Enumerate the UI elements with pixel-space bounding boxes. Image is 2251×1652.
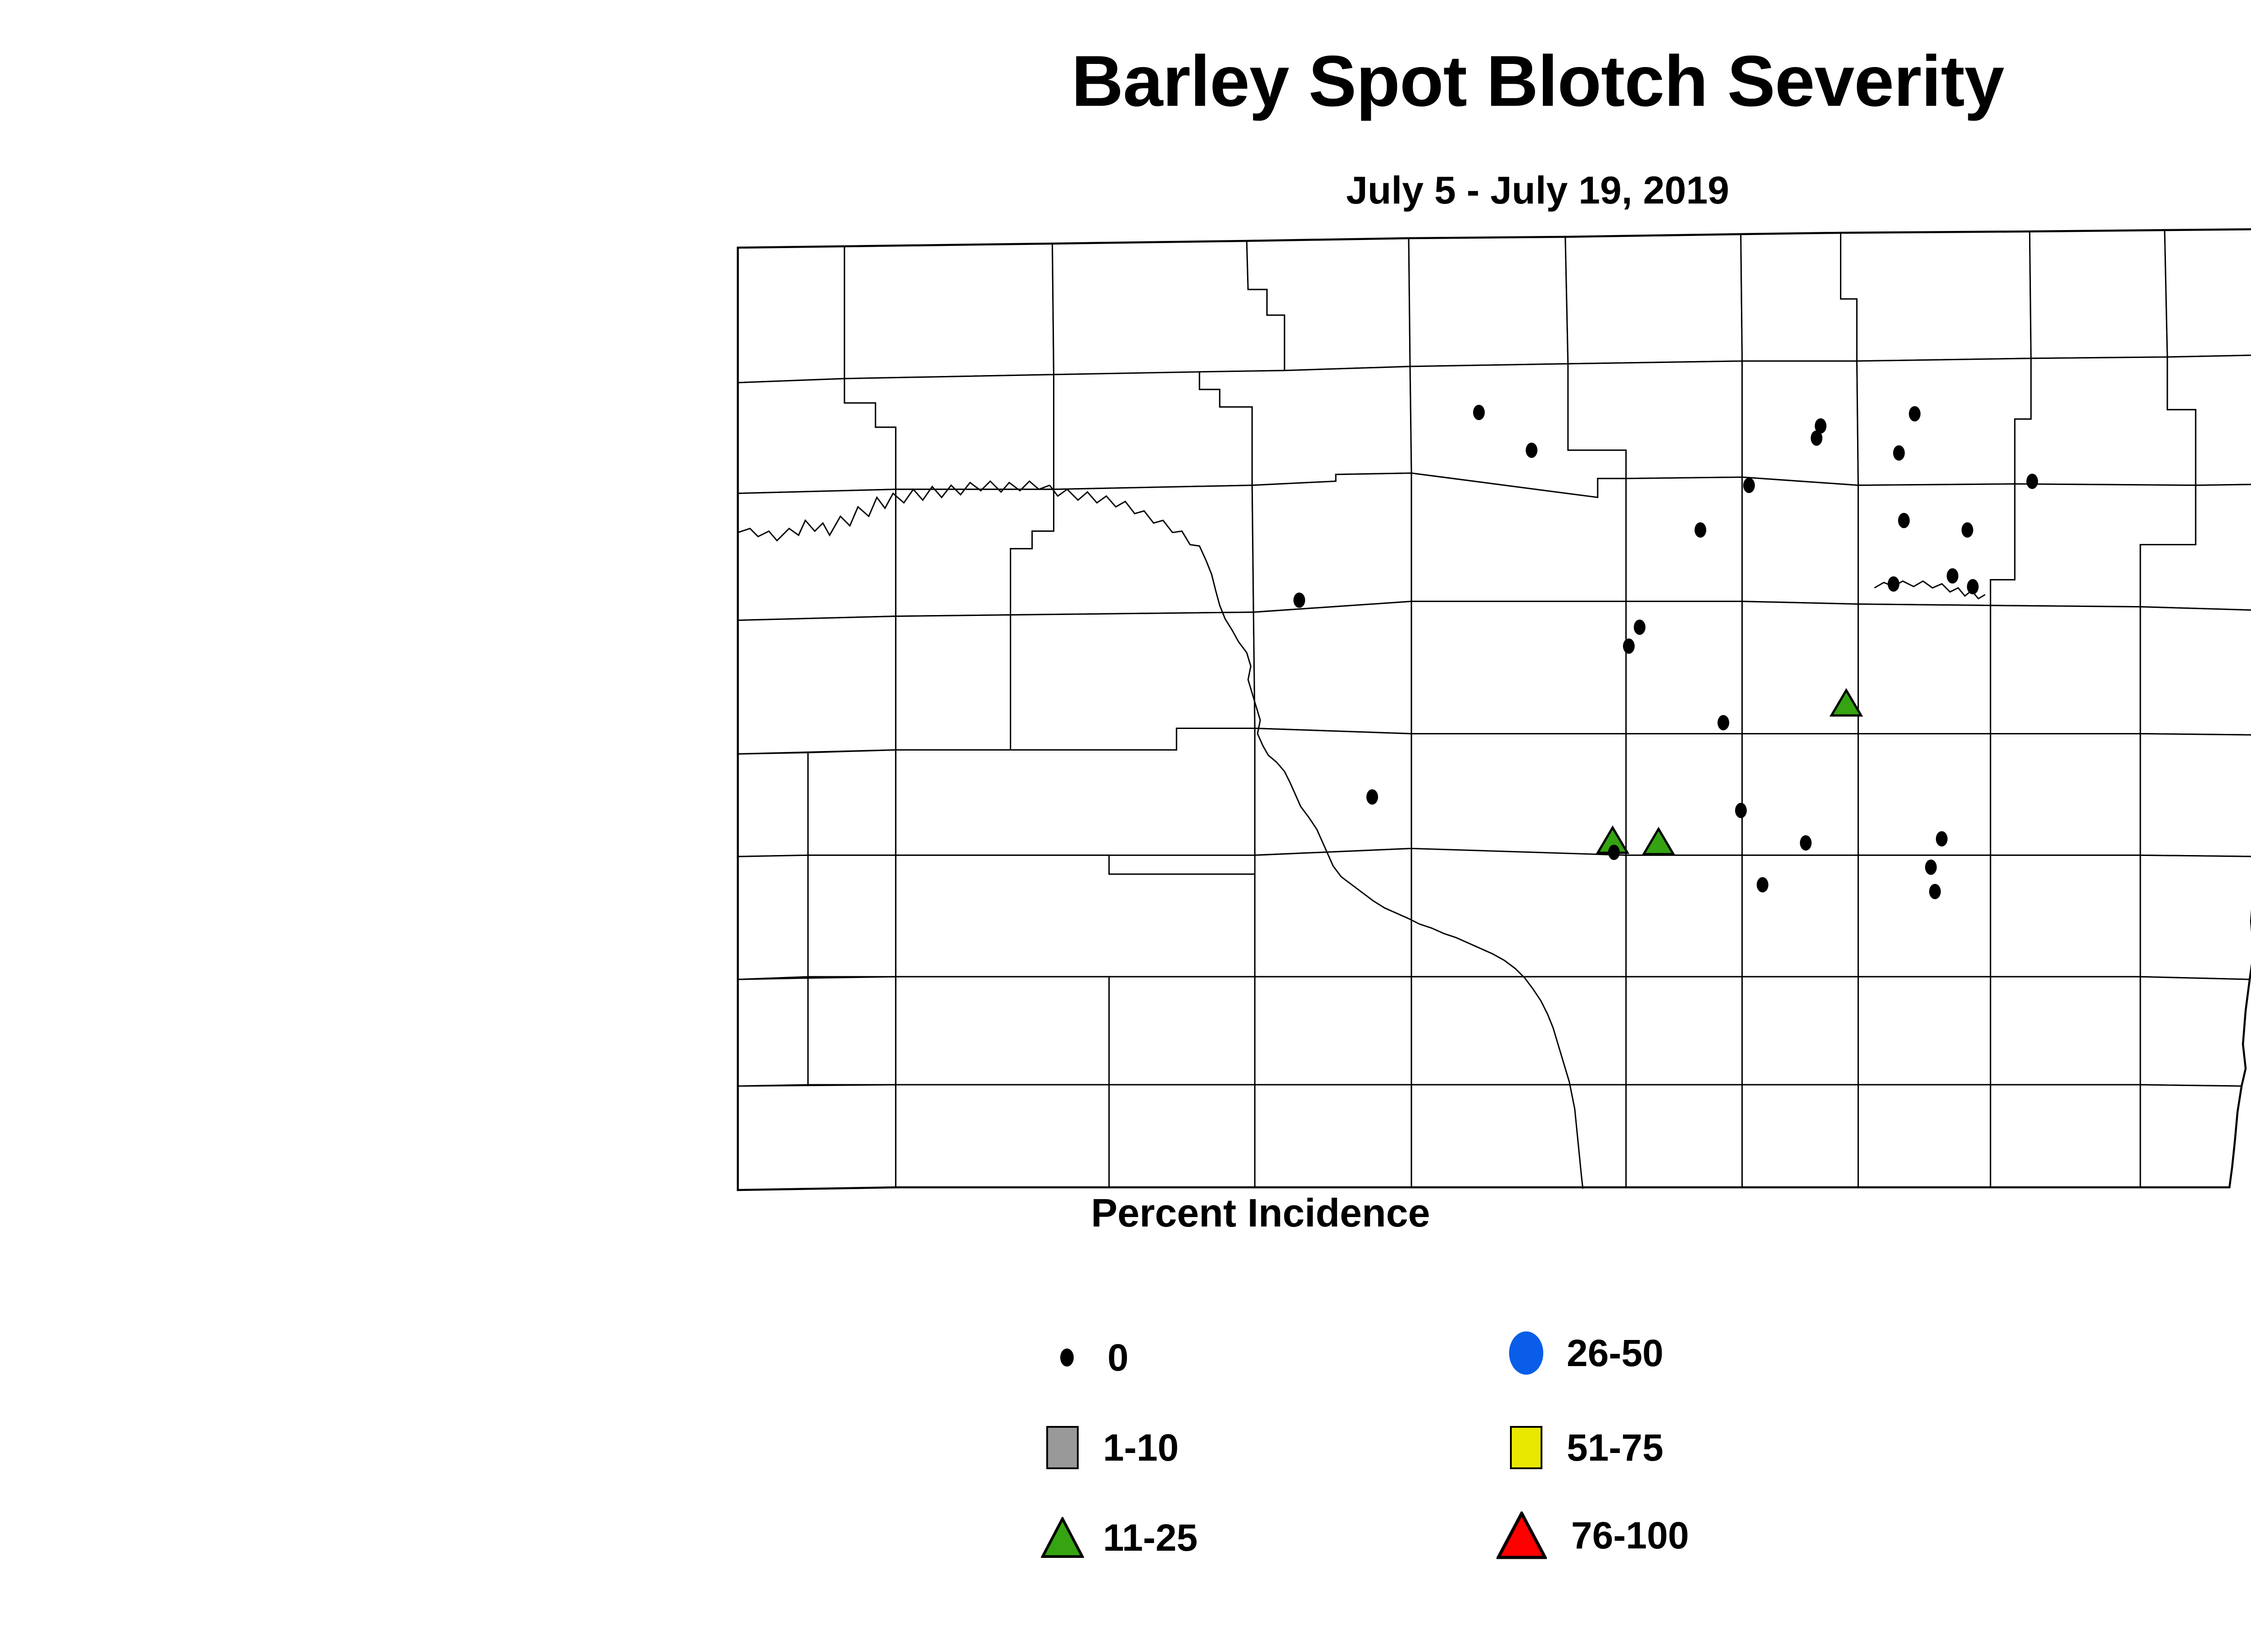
map-marker[interactable] [1929,884,1941,899]
legend-label: 76-100 [1571,1506,1689,1565]
map-marker[interactable] [1947,568,1958,584]
map-marker[interactable] [1634,620,1645,635]
legend: Percent Incidence 0 1-10 11-25 [990,1193,2071,1621]
map-marker[interactable] [1757,877,1768,892]
map-marker[interactable] [1718,715,1729,730]
legend-label: 26-50 [1567,1324,1663,1382]
map-marker[interactable] [1293,593,1305,608]
map-marker[interactable] [2026,474,2038,489]
page-subtitle: July 5 - July 19, 2019 [0,171,2251,210]
map-marker[interactable] [1967,579,1979,594]
map-marker[interactable] [1473,405,1485,420]
legend-label: 1-10 [1103,1418,1179,1477]
map-marker[interactable] [1909,406,1921,421]
map-marker-triangle[interactable] [1830,689,1862,717]
map-marker[interactable] [1623,638,1635,654]
county-polygons [738,229,2251,1190]
legend-label: 51-75 [1567,1418,1663,1477]
north-dakota-map[interactable] [653,221,2251,1202]
gray-square-icon [1035,1418,1089,1477]
legend-label: 0 [1107,1328,1129,1387]
map-marker[interactable] [1735,803,1747,818]
map-marker[interactable] [1800,835,1812,851]
map-marker-triangle[interactable] [1642,828,1675,855]
map-marker[interactable] [1366,789,1378,805]
map-svg [653,221,2251,1202]
map-marker[interactable] [1898,513,1910,528]
map-marker[interactable] [1526,443,1537,458]
map-marker[interactable] [1962,522,1973,538]
map-marker[interactable] [1888,576,1899,592]
legend-label: 11-25 [1103,1508,1198,1567]
green-triangle-icon [1830,689,1862,717]
legend-title: Percent Incidence [990,1193,1531,1233]
green-triangle-icon [1035,1508,1089,1567]
map-marker[interactable] [1893,445,1905,461]
yellow-square-icon [1499,1418,1553,1477]
map-marker[interactable] [1743,478,1755,493]
map-page: Barley Spot Blotch Severity July 5 - Jul… [0,0,2251,1652]
blue-ellipse-icon [1499,1324,1553,1382]
map-marker[interactable] [1608,845,1620,860]
red-triangle-icon [1495,1506,1549,1565]
map-marker[interactable] [1695,522,1706,538]
map-marker[interactable] [1925,860,1937,875]
map-marker[interactable] [1811,430,1822,446]
black-ellipse-icon [1040,1328,1094,1387]
green-triangle-icon [1642,828,1675,855]
map-marker[interactable] [1936,831,1948,846]
page-title: Barley Spot Blotch Severity [0,45,2251,117]
